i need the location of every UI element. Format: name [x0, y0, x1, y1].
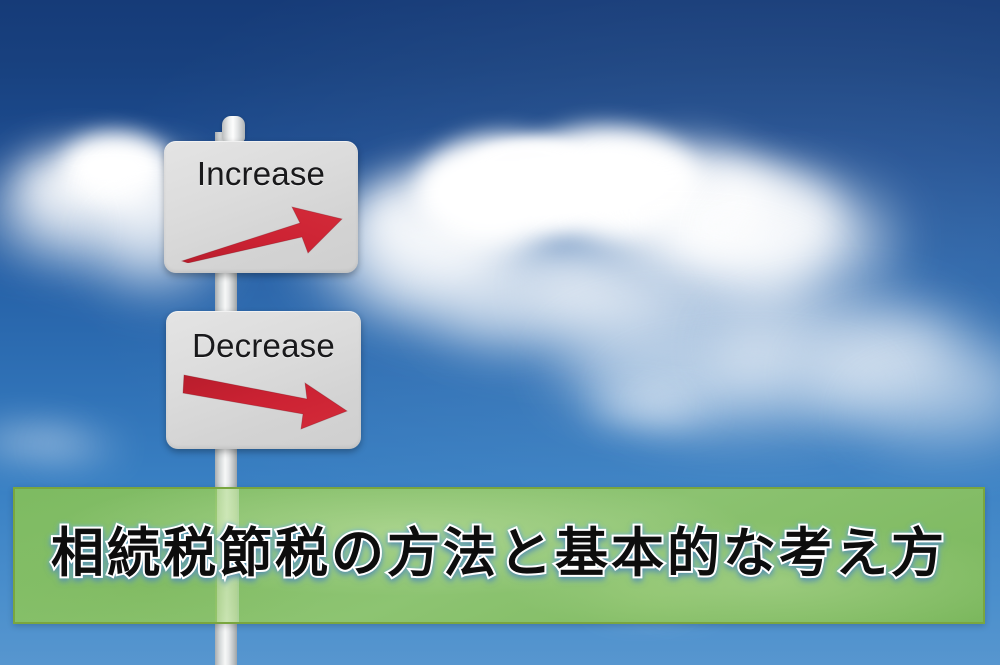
sign-increase-label: Increase [164, 155, 358, 193]
arrow-down-right-icon [181, 373, 349, 431]
banner-title-text: 相続税節税の方法と基本的な考え方 [15, 489, 983, 622]
title-banner: 相続税節税の方法と基本的な考え方 [13, 487, 985, 624]
sign-increase[interactable]: Increase [164, 141, 358, 273]
image-canvas: Increase Decrease [0, 0, 1000, 665]
sign-decrease[interactable]: Decrease [166, 311, 361, 449]
sign-decrease-label: Decrease [166, 327, 361, 365]
arrow-up-right-icon [180, 201, 344, 263]
signpost-cap [222, 116, 245, 142]
